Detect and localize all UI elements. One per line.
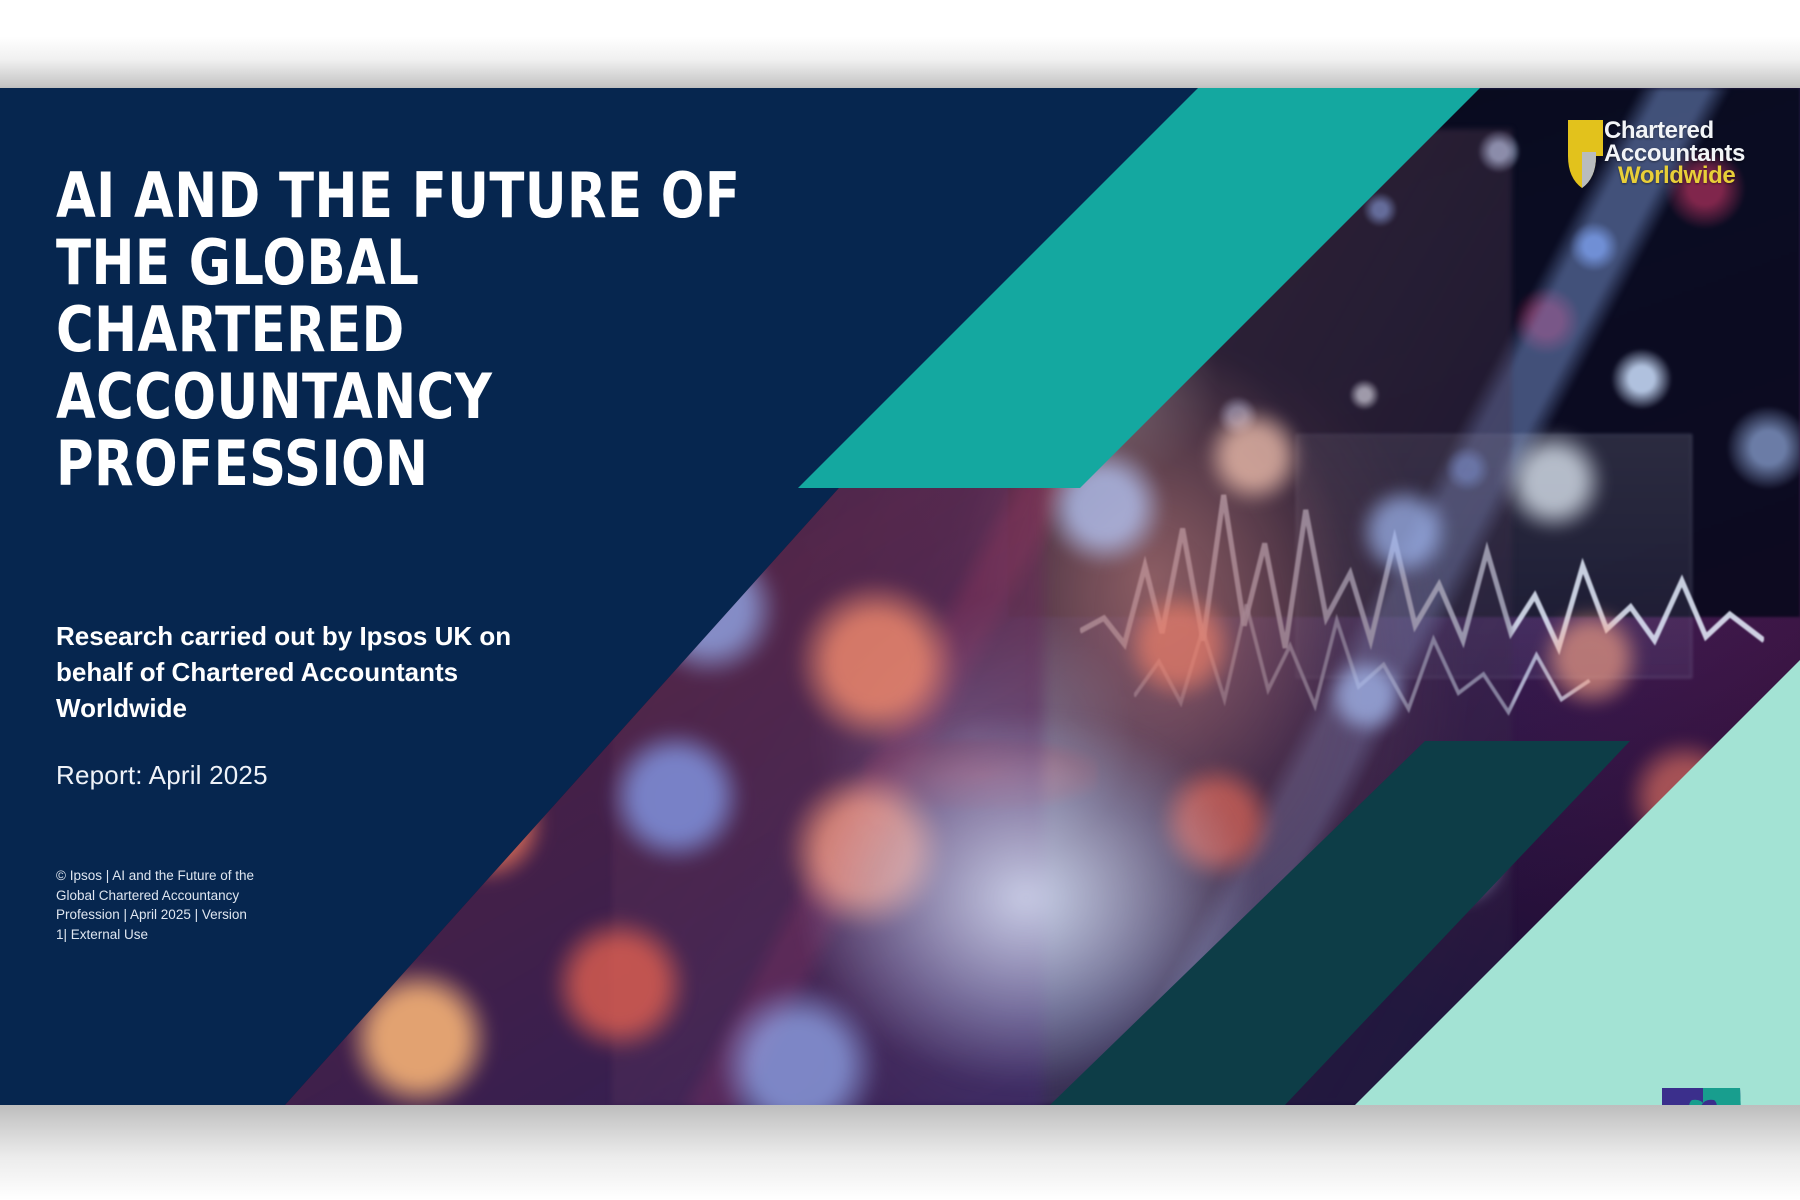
presentation-slide: AI AND THE FUTURE OF THE GLOBAL CHARTERE…	[0, 88, 1800, 1105]
caw-wordmark: Chartered Accountants Worldwide	[1604, 120, 1744, 188]
copyright-notice: © Ipsos | AI and the Future of the Globa…	[56, 866, 261, 944]
report-date: Report: April 2025	[56, 760, 268, 791]
page-top-shadow	[0, 0, 1800, 88]
slide-page: AI AND THE FUTURE OF THE GLOBAL CHARTERE…	[0, 0, 1800, 1200]
chartered-accountants-worldwide-logo: Chartered Accountants Worldwide	[1566, 118, 1741, 214]
ipsos-logo: Ipsos	[1662, 1088, 1744, 1105]
slide-title: AI AND THE FUTURE OF THE GLOBAL CHARTERE…	[56, 163, 755, 498]
slide-subtitle: Research carried out by Ipsos UK on beha…	[56, 619, 526, 727]
caw-line-3: Worldwide	[1604, 165, 1744, 188]
page-bottom-shadow	[0, 1105, 1800, 1200]
ipsos-mark-icon	[1662, 1088, 1744, 1105]
